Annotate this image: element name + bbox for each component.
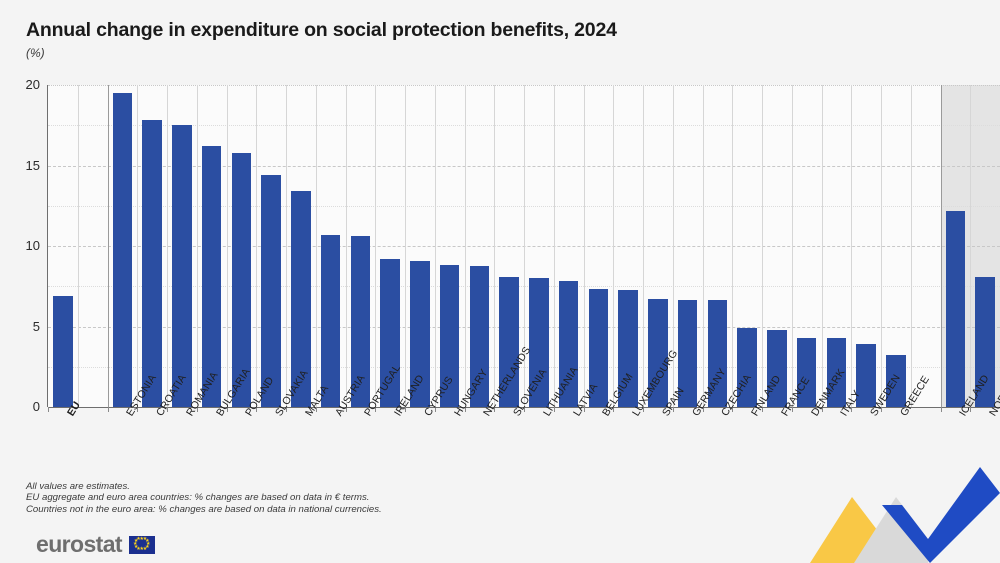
bar-bulgaria[interactable] (202, 146, 222, 407)
vertical-separator (286, 85, 287, 407)
vertical-separator (256, 85, 257, 407)
eu-flag-icon: ★★★★★★★★★★★★ (129, 536, 155, 554)
y-axis-label-20: 20 (6, 79, 40, 91)
vertical-separator (762, 85, 763, 407)
x-tick (48, 407, 49, 412)
vertical-separator (822, 85, 823, 407)
vertical-separator (375, 85, 376, 407)
vertical-separator (137, 85, 138, 407)
vertical-separator (554, 85, 555, 407)
eu-flag-star: ★ (136, 537, 140, 542)
y-axis-label-10: 10 (6, 240, 40, 252)
bar-estonia[interactable] (113, 93, 133, 407)
vertical-separator (584, 85, 585, 407)
vertical-separator (197, 85, 198, 407)
group-separator (941, 85, 942, 407)
footnote-line-3: Countries not in the euro area: % change… (26, 504, 382, 515)
vertical-separator (435, 85, 436, 407)
vertical-separator (911, 85, 912, 407)
vertical-separator (732, 85, 733, 407)
bar-croatia[interactable] (142, 120, 162, 407)
y-axis-label-0: 0 (6, 401, 40, 413)
vertical-separator (881, 85, 882, 407)
page-title: Annual change in expenditure on social p… (26, 18, 926, 42)
vertical-separator (405, 85, 406, 407)
vertical-separator (465, 85, 466, 407)
bar-austria[interactable] (321, 235, 341, 407)
vertical-separator (851, 85, 852, 407)
vertical-separator (792, 85, 793, 407)
vertical-separator (167, 85, 168, 407)
vertical-separator (494, 85, 495, 407)
footnote-line-1: All values are estimates. (26, 481, 382, 492)
vertical-separator (970, 85, 971, 407)
vertical-separator (316, 85, 317, 407)
x-tick (941, 407, 942, 412)
logo-text: eurostat (36, 533, 122, 556)
title-block: Annual change in expenditure on social p… (26, 18, 926, 60)
vertical-separator (703, 85, 704, 407)
chart-page: Annual change in expenditure on social p… (0, 0, 1000, 563)
corner-chevrons-icon (810, 453, 1000, 563)
vertical-separator (346, 85, 347, 407)
footnote-line-2: EU aggregate and euro area countries: % … (26, 492, 382, 503)
group-separator (108, 85, 109, 407)
eurostat-logo: eurostat ★★★★★★★★★★★★ (36, 533, 155, 556)
bar-romania[interactable] (172, 125, 192, 407)
y-axis: 05101520 (0, 79, 40, 413)
bar-slovakia[interactable] (261, 175, 281, 407)
footnotes: All values are estimates. EU aggregate a… (26, 481, 382, 515)
decorative-corner-mark (810, 453, 1000, 563)
y-axis-label-5: 5 (6, 321, 40, 333)
vertical-separator (613, 85, 614, 407)
x-tick (108, 407, 109, 412)
vertical-separator (78, 85, 79, 407)
bar-eu[interactable] (53, 296, 73, 407)
vertical-separator (643, 85, 644, 407)
vertical-separator (227, 85, 228, 407)
bar-iceland[interactable] (946, 211, 966, 407)
chart-unit-label: (%) (26, 46, 926, 60)
y-axis-label-15: 15 (6, 160, 40, 172)
